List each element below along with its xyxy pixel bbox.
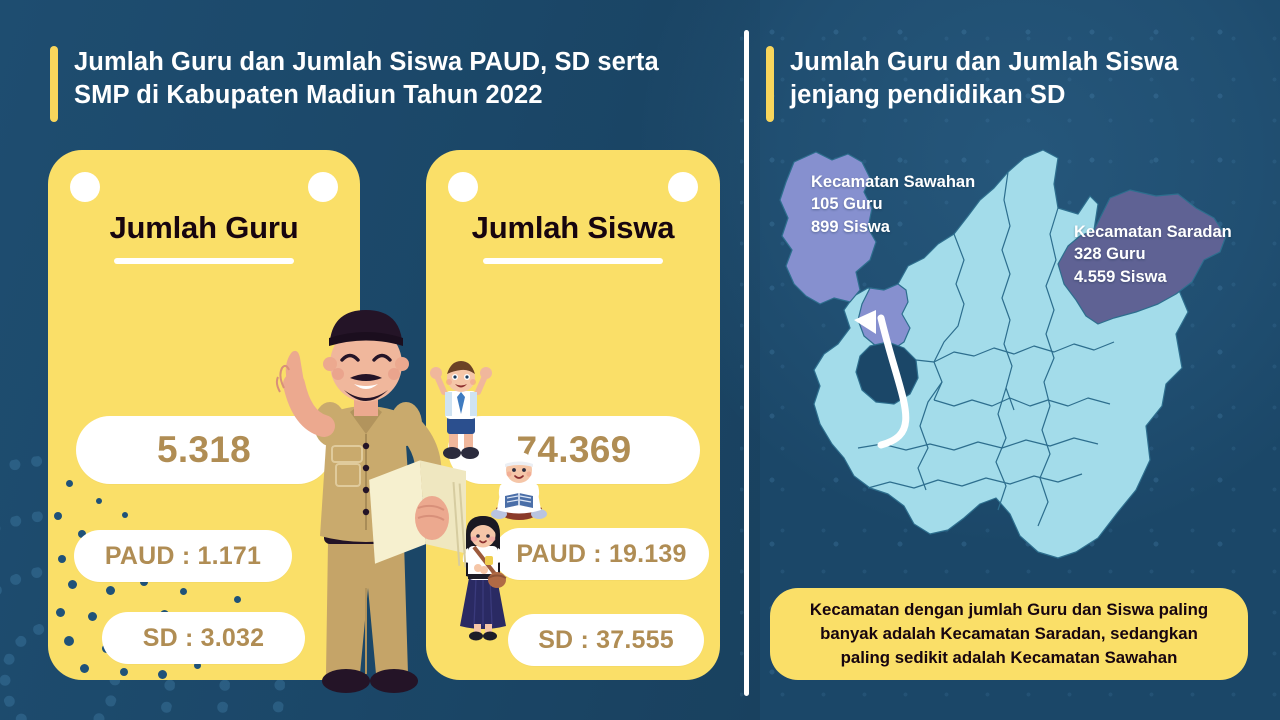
infographic-canvas: Jumlah Guru dan Jumlah Siswa PAUD, SD se… [0,0,1280,720]
map-label-saradan: Kecamatan Saradan 328 Guru 4.559 Siswa [1074,221,1232,288]
left-title-text: Jumlah Guru dan Jumlah Siswa PAUD, SD se… [74,46,659,112]
card-guru-title: Jumlah Guru [48,210,360,246]
right-panel-title: Jumlah Guru dan Jumlah Siswa jenjang pen… [766,46,1236,122]
card-siswa-header: Jumlah Siswa [426,210,720,264]
card-title-underline [114,258,294,264]
punch-hole-right-icon [308,172,338,202]
card-guru-header: Jumlah Guru [48,210,360,264]
card-siswa-title: Jumlah Siswa [426,210,720,246]
teacher-illustration [266,306,466,720]
map-caption-box: Kecamatan dengan jumlah Guru dan Siswa p… [770,588,1248,680]
title-accent-bar [50,46,58,122]
siswa-sd-value: SD : 37.555 [508,614,704,666]
map-caption-text: Kecamatan dengan jumlah Guru dan Siswa p… [810,598,1208,670]
title-accent-bar [766,46,774,122]
punch-hole-left-icon [70,172,100,202]
punch-hole-left-icon [448,172,478,202]
guru-paud-value: PAUD : 1.171 [74,530,292,582]
left-panel-title: Jumlah Guru dan Jumlah Siswa PAUD, SD se… [50,46,710,122]
right-title-text: Jumlah Guru dan Jumlah Siswa jenjang pen… [790,46,1178,112]
card-title-underline [483,258,663,264]
punch-hole-right-icon [668,172,698,202]
panel-divider [744,30,749,696]
siswa-paud-value: PAUD : 19.139 [494,528,709,580]
map-label-sawahan: Kecamatan Sawahan 105 Guru 899 Siswa [811,171,975,238]
